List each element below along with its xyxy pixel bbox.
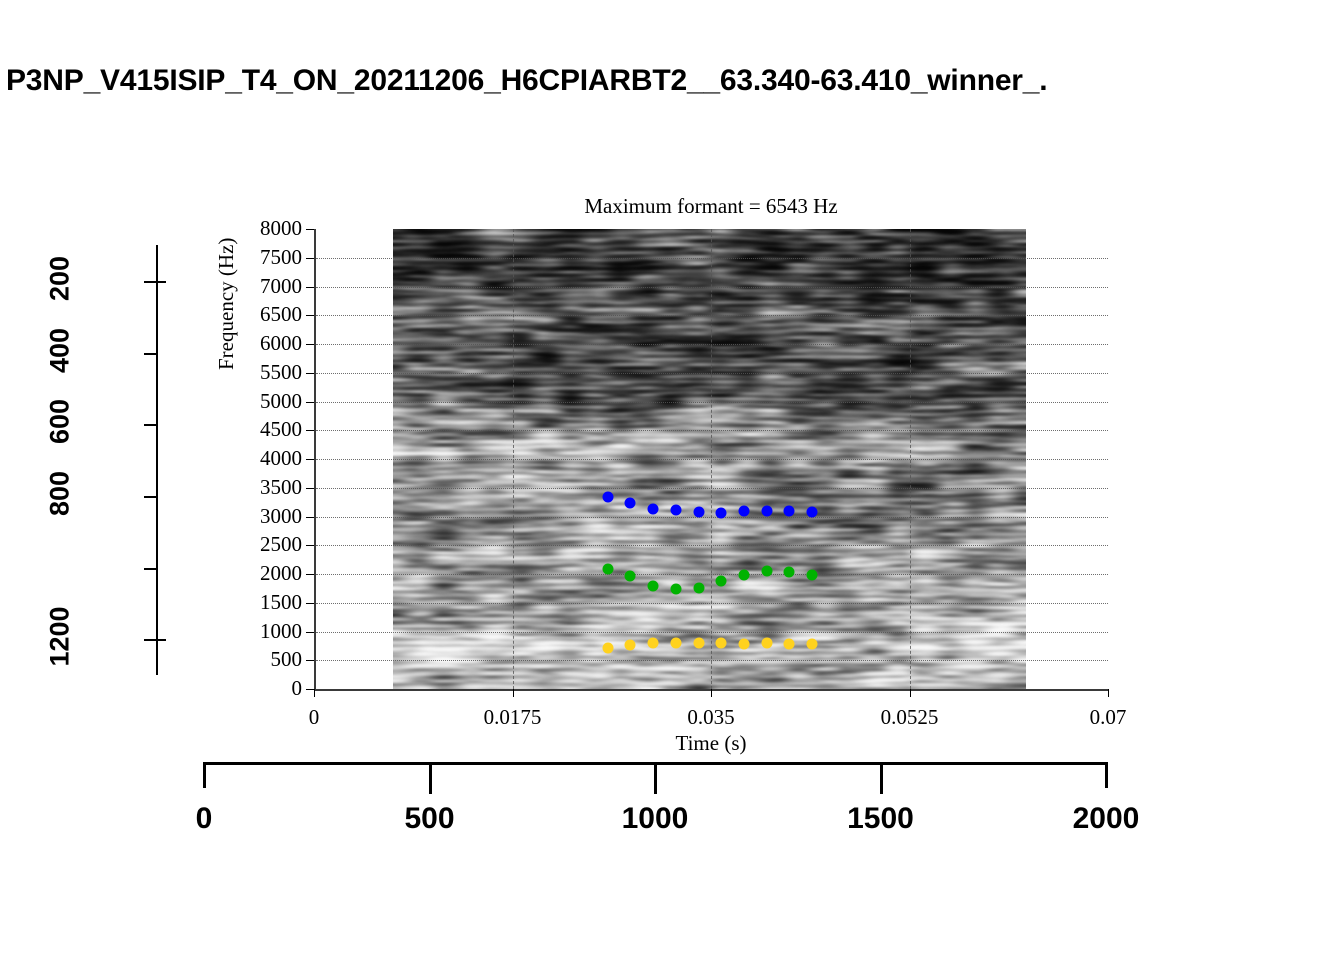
outer-bottom-axis-label: 1500 <box>847 802 914 836</box>
frequency-outer-axis <box>140 229 164 691</box>
formant-point-f2 <box>716 576 727 587</box>
horizontal-gridline <box>316 344 1108 345</box>
outer-left-axis-tick <box>144 353 158 355</box>
outer-left-axis-label: 200 <box>45 238 76 318</box>
horizontal-gridline <box>316 660 1108 661</box>
x-axis-tick <box>513 689 514 697</box>
y-axis-tick <box>306 660 314 661</box>
horizontal-gridline <box>316 373 1108 374</box>
outer-bottom-axis-tick <box>880 762 883 794</box>
y-axis-tick <box>306 574 314 575</box>
formant-point-f2 <box>693 582 704 593</box>
formant-point-f3 <box>738 506 749 517</box>
formant-point-f1 <box>738 638 749 649</box>
y-axis-tick-label: 7500 <box>260 247 302 268</box>
outer-left-axis-label: 400 <box>45 310 76 390</box>
page-title: P3NP_V415ISIP_T4_ON_20211206_H6CPIARBT2_… <box>6 64 1344 98</box>
x-axis-tick-label: 0.0525 <box>881 705 939 730</box>
y-axis-tick-label: 2000 <box>260 563 302 584</box>
outer-bottom-axis-tick <box>654 762 657 794</box>
outer-bottom-axis-tick <box>429 762 432 794</box>
y-axis-title: Frequency (Hz) <box>214 238 239 370</box>
formant-point-f2 <box>784 566 795 577</box>
x-axis-tick-label: 0 <box>309 705 320 730</box>
horizontal-gridline <box>316 287 1108 288</box>
y-axis-tick-label: 1500 <box>260 592 302 613</box>
horizontal-gridline <box>316 545 1108 546</box>
horizontal-gridline <box>316 603 1108 604</box>
formant-point-f2 <box>670 583 681 594</box>
formant-point-f2 <box>648 581 659 592</box>
outer-left-axis-tick <box>144 281 158 283</box>
y-axis-tick <box>306 545 314 546</box>
time-outer-axis <box>188 762 1122 796</box>
y-axis-tick-label: 1000 <box>260 621 302 642</box>
y-axis-tick-label: 500 <box>271 649 303 670</box>
formant-point-f1 <box>693 638 704 649</box>
outer-bottom-axis-label: 2000 <box>1073 802 1140 836</box>
formant-point-f2 <box>625 571 636 582</box>
y-axis-tick-label: 3000 <box>260 506 302 527</box>
vertical-gridline <box>711 229 712 689</box>
y-axis-tick-label: 6000 <box>260 333 302 354</box>
vertical-gridline <box>513 229 514 689</box>
y-axis-tick-label: 7000 <box>260 276 302 297</box>
y-axis-tick-label: 4000 <box>260 448 302 469</box>
outer-left-axis-tick <box>144 639 158 641</box>
outer-left-axis-label: 1200 <box>45 597 76 677</box>
x-axis-tick <box>711 689 712 697</box>
outer-left-axis-spine <box>156 245 158 675</box>
formant-point-f3 <box>648 504 659 515</box>
y-axis-tick-label: 8000 <box>260 218 302 239</box>
y-axis-tick <box>306 689 314 690</box>
formant-point-f2 <box>806 570 817 581</box>
horizontal-gridline <box>316 632 1108 633</box>
outer-bottom-axis-cap <box>1105 762 1108 788</box>
vertical-gridline <box>910 229 911 689</box>
formant-point-f3 <box>761 506 772 517</box>
x-axis-tick <box>1108 689 1109 697</box>
formant-point-f3 <box>716 508 727 519</box>
horizontal-gridline <box>316 488 1108 489</box>
y-axis-tick-label: 6500 <box>260 304 302 325</box>
y-axis-tick <box>306 402 314 403</box>
y-axis-tick <box>306 430 314 431</box>
formant-point-f1 <box>761 638 772 649</box>
formant-point-f1 <box>806 638 817 649</box>
y-axis-tick-label: 5000 <box>260 391 302 412</box>
y-axis-tick <box>306 344 314 345</box>
horizontal-gridline <box>316 459 1108 460</box>
formant-point-f1 <box>648 638 659 649</box>
horizontal-gridline <box>316 315 1108 316</box>
y-axis-tick <box>306 315 314 316</box>
formant-point-f1 <box>716 638 727 649</box>
y-axis-tick-label: 3500 <box>260 477 302 498</box>
horizontal-gridline <box>316 402 1108 403</box>
x-axis-tick-label: 0.07 <box>1090 705 1127 730</box>
y-axis-tick <box>306 632 314 633</box>
outer-bottom-axis-label: 500 <box>404 802 454 836</box>
y-axis-tick-label: 4500 <box>260 419 302 440</box>
y-axis-tick <box>306 373 314 374</box>
outer-left-axis-tick <box>144 568 158 570</box>
y-axis-tick <box>306 488 314 489</box>
y-axis-tick <box>306 459 314 460</box>
y-axis-tick-label: 5500 <box>260 362 302 383</box>
formant-point-f1 <box>602 642 613 653</box>
x-axis-tick-label: 0.035 <box>687 705 734 730</box>
panel-left-spine <box>314 229 316 691</box>
formant-point-f1 <box>625 639 636 650</box>
y-axis-tick <box>306 517 314 518</box>
horizontal-gridline <box>316 430 1108 431</box>
formant-point-f2 <box>738 569 749 580</box>
y-axis-tick <box>306 287 314 288</box>
formant-point-f2 <box>602 564 613 575</box>
formant-point-f1 <box>784 639 795 650</box>
formant-point-f3 <box>602 491 613 502</box>
outer-left-axis-label: 800 <box>45 453 76 533</box>
formant-point-f3 <box>625 498 636 509</box>
formant-point-f3 <box>806 506 817 517</box>
x-axis-tick <box>314 689 315 697</box>
y-axis-tick-label: 2500 <box>260 534 302 555</box>
x-axis-tick-label: 0.0175 <box>484 705 542 730</box>
horizontal-gridline <box>316 517 1108 518</box>
formant-point-f1 <box>670 638 681 649</box>
formant-point-f3 <box>670 505 681 516</box>
horizontal-gridline <box>316 574 1108 575</box>
y-axis-tick <box>306 603 314 604</box>
y-axis-tick <box>306 229 314 230</box>
y-axis-tick <box>306 258 314 259</box>
formant-point-f3 <box>784 506 795 517</box>
outer-bottom-axis-label: 0 <box>196 802 213 836</box>
outer-bottom-axis-label: 1000 <box>622 802 689 836</box>
x-axis-tick <box>910 689 911 697</box>
spectrogram-panel: 0500100015002000250030003500400045005000… <box>314 229 1108 691</box>
x-axis-title: Time (s) <box>314 731 1108 756</box>
y-axis-tick-label: 0 <box>292 678 303 699</box>
outer-left-axis-label: 600 <box>45 382 76 462</box>
outer-left-axis-tick <box>144 496 158 498</box>
formant-point-f2 <box>761 566 772 577</box>
chart-subtitle: Maximum formant = 6543 Hz <box>314 194 1108 219</box>
horizontal-gridline <box>316 258 1108 259</box>
formant-point-f3 <box>693 506 704 517</box>
outer-bottom-axis-cap <box>203 762 206 788</box>
outer-left-axis-tick <box>144 424 158 426</box>
